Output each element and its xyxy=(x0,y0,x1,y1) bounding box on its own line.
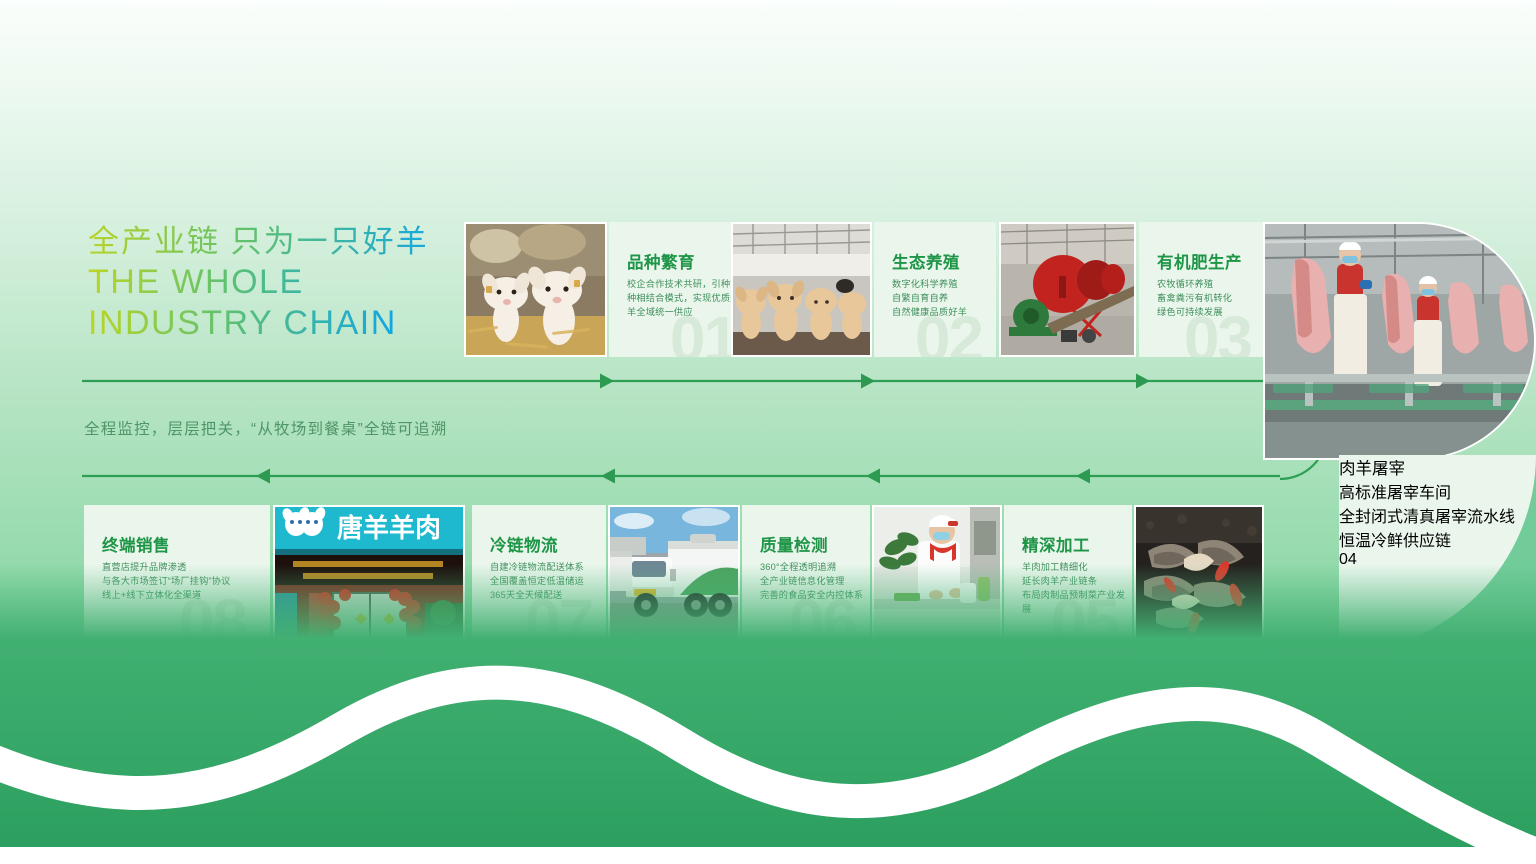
step-panel-03[interactable]: 有机肥生产 农牧循环养殖 畜禽粪污有机转化 绿色可持续发展 03 xyxy=(1139,222,1265,357)
step-number-03: 03 xyxy=(1184,307,1251,357)
step-title-06: 质量检测 xyxy=(760,532,828,556)
step-panel-02[interactable]: 生态养殖 数字化科学养殖 自繁自育自养 自然健康品质好羊 02 xyxy=(874,222,996,357)
infographic-poster: 全产业链 只为一只好羊 THE WHOLE INDUSTRY CHAIN 全程监… xyxy=(0,0,1536,864)
sheep-barn-photo xyxy=(731,222,872,357)
fertilizer-machinery-photo xyxy=(999,222,1136,357)
title-english-line1: THE WHOLE xyxy=(88,262,429,303)
title-chinese: 全产业链 只为一只好羊 xyxy=(88,222,429,262)
lambs-in-pen-photo xyxy=(464,222,607,357)
step-panel-01[interactable]: 品种繁育 校企合作技术共研，引种育 种相结合模式，实现优质羔 羊全域统一供应 0… xyxy=(609,222,751,357)
step-title-07: 冷链物流 xyxy=(490,532,558,556)
step-title-05: 精深加工 xyxy=(1022,532,1090,556)
step-title-08: 终端销售 xyxy=(102,532,170,556)
step-title-03: 有机肥生产 xyxy=(1157,249,1242,273)
slaughter-line-photo xyxy=(1263,222,1536,460)
step-number-02: 02 xyxy=(915,307,982,357)
arrow-right-icon xyxy=(600,374,1150,389)
step-number-01: 01 xyxy=(670,307,737,357)
title-english-line2: INDUSTRY CHAIN xyxy=(88,303,429,344)
tagline: 全程监控，层层把关，“从牧场到餐桌”全链可追溯 xyxy=(84,417,447,439)
decorative-wave xyxy=(0,564,1536,864)
arrow-left-icon xyxy=(256,469,1090,484)
svg-text:唐羊羊肉: 唐羊羊肉 xyxy=(337,513,441,543)
step-title-04: 肉羊屠宰 xyxy=(1339,455,1536,479)
step-title-02: 生态养殖 xyxy=(892,249,960,273)
page-title: 全产业链 只为一只好羊 THE WHOLE INDUSTRY CHAIN xyxy=(88,222,429,344)
step-title-01: 品种繁育 xyxy=(627,249,695,273)
step-lines-04: 高标准屠宰车间 全封闭式清真屠宰流水线 恒温冷鲜供应链 xyxy=(1339,479,1536,551)
